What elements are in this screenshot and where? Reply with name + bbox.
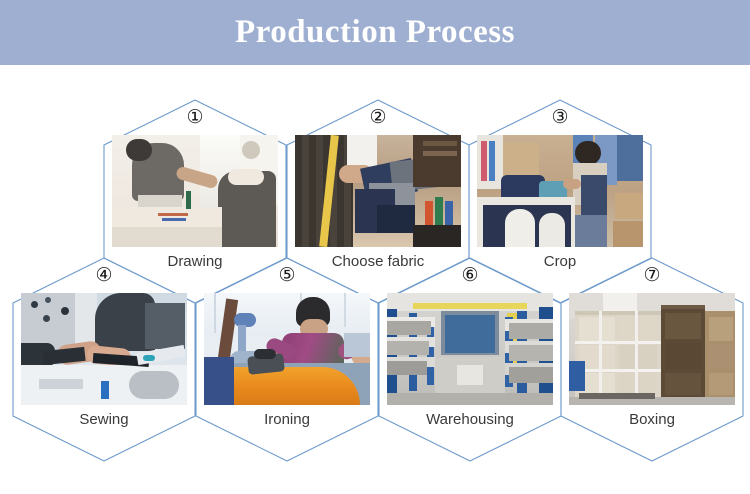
- step-cell-4[interactable]: ④: [13, 258, 195, 468]
- step-photo-5: [204, 293, 370, 405]
- step-photo-4: [21, 293, 187, 405]
- page-title: Production Process: [0, 0, 750, 65]
- step-number-3: ③: [469, 108, 651, 127]
- step-number-7: ⑦: [561, 266, 743, 285]
- step-number-2: ②: [287, 108, 469, 127]
- step-cell-7[interactable]: ⑦: [561, 258, 743, 468]
- step-number-6: ⑥: [379, 266, 561, 285]
- honeycomb-diagram: ① Drawin: [0, 65, 750, 494]
- step-number-5: ⑤: [196, 266, 378, 285]
- step-photo-3: [477, 135, 643, 247]
- step-label-4: Sewing: [13, 410, 195, 430]
- step-cell-5[interactable]: ⑤: [196, 258, 378, 468]
- step-photo-7: [569, 293, 735, 405]
- step-label-7: Boxing: [561, 410, 743, 430]
- header-band: Production Process: [0, 0, 750, 65]
- step-photo-6: [387, 293, 553, 405]
- production-process-infographic: Production Process ①: [0, 0, 750, 494]
- step-cell-6[interactable]: ⑥: [379, 258, 561, 468]
- step-photo-2: [295, 135, 461, 247]
- step-label-5: Ironing: [196, 410, 378, 430]
- step-photo-1: [112, 135, 278, 247]
- step-number-1: ①: [104, 108, 286, 127]
- step-label-6: Warehousing: [379, 410, 561, 430]
- step-number-4: ④: [13, 266, 195, 285]
